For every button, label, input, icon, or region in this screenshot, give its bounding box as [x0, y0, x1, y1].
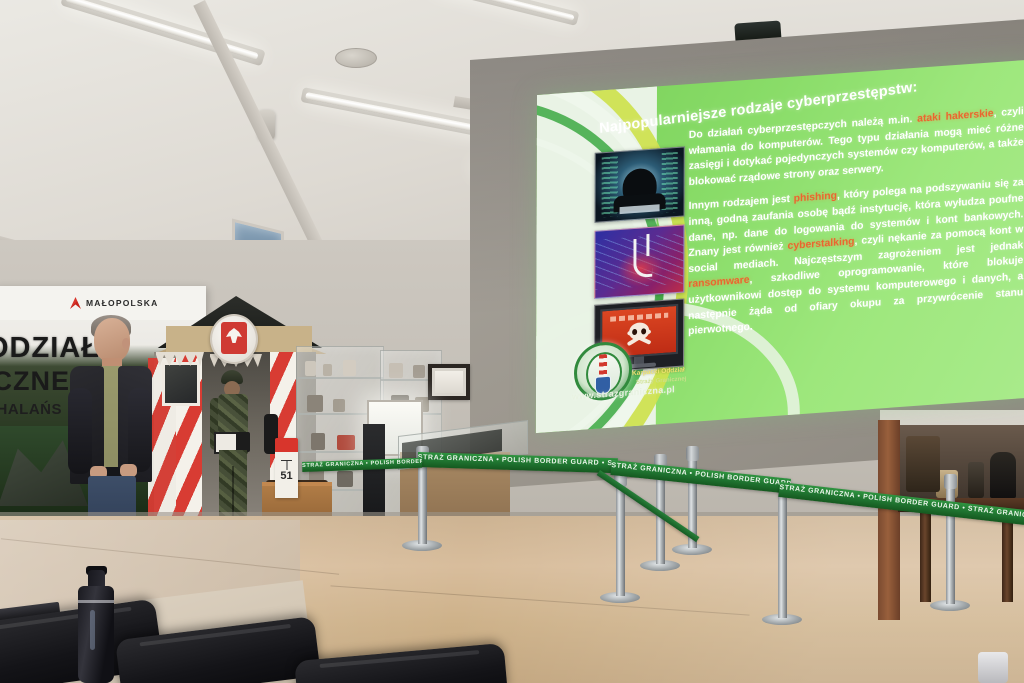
mannequin-holster: [236, 432, 250, 452]
slide-highlight-term: ataki hakerskie: [917, 108, 993, 124]
exhibit-object: [337, 435, 355, 450]
exhibit-object: [337, 471, 353, 487]
table-leg: [1002, 510, 1013, 602]
bottle-highlight: [90, 610, 95, 650]
cabinet-shelf: [297, 377, 383, 379]
presenter-arm-left: [68, 388, 92, 474]
stanchion-head: [686, 446, 699, 461]
stanchion-head: [944, 474, 957, 489]
stanchion-post: [616, 478, 625, 596]
slide-highlight-term: cyberstalking: [788, 236, 855, 252]
presentation-room-photo: Najpopularniejsze rodzaje cyberprzestęps…: [0, 0, 1024, 683]
keyboard-icon: [620, 204, 660, 214]
slide-paragraph-2: Innym rodzajem jest phishing, który pole…: [688, 176, 1023, 341]
warning-text-bar: [610, 313, 668, 322]
eagle-icon: [226, 328, 242, 343]
foreground-cup: [978, 652, 1008, 683]
slide-body-text: Do działań cyberprzestępczych należą m.i…: [688, 104, 1024, 349]
table-exhibit-object: [968, 462, 984, 498]
skull-icon: [629, 322, 649, 340]
exhibit-object: [413, 365, 425, 378]
border-guard-mannequin: [210, 370, 254, 534]
skull-eye: [632, 329, 637, 335]
stanchion-post: [778, 484, 787, 618]
exhibit-object: [311, 433, 325, 450]
framed-picture-image: [435, 371, 463, 393]
ceiling-vent: [335, 48, 377, 68]
border-marker-post: 51: [275, 438, 298, 498]
crest-field: [221, 322, 247, 354]
slide-highlight-term: phishing: [794, 191, 837, 205]
polish-eagle-crest-icon: [210, 314, 258, 364]
border-post-number: 51: [275, 470, 298, 482]
presenter-arm-right: [128, 388, 151, 472]
post-marker-stem: [286, 460, 287, 470]
framed-picture: [428, 364, 470, 400]
display-stand-panel: [363, 424, 385, 520]
table-leg: [920, 510, 931, 602]
skull-eye: [641, 328, 646, 334]
table-exhibit-object: [990, 452, 1016, 498]
presenter-ear: [122, 338, 130, 349]
banner-line-3: PHALAŃS: [0, 401, 62, 418]
exhibit-object: [323, 364, 332, 376]
phishing-hook-thumbnail: [594, 224, 684, 298]
fishing-hook-icon: [633, 238, 652, 278]
wooden-column: [878, 420, 900, 620]
stanchion-post: [946, 480, 955, 604]
tall-cabinet: [906, 436, 940, 492]
slide-canvas: Najpopularniejsze rodzaje cyberprzestęps…: [536, 59, 1024, 433]
exhibit-object: [389, 363, 403, 378]
booth-window: [162, 362, 200, 406]
hacker-thumbnail: [595, 146, 685, 222]
exhibit-object: [307, 395, 323, 412]
exhibit-object: [333, 399, 345, 412]
projected-slide: Najpopularniejsze rodzaje cyberprzestęps…: [536, 59, 1024, 433]
exhibit-object: [343, 360, 356, 376]
exhibit-object: [305, 361, 316, 376]
bottle-ring: [78, 600, 114, 603]
slide-highlight-term: ransomware: [688, 275, 749, 290]
